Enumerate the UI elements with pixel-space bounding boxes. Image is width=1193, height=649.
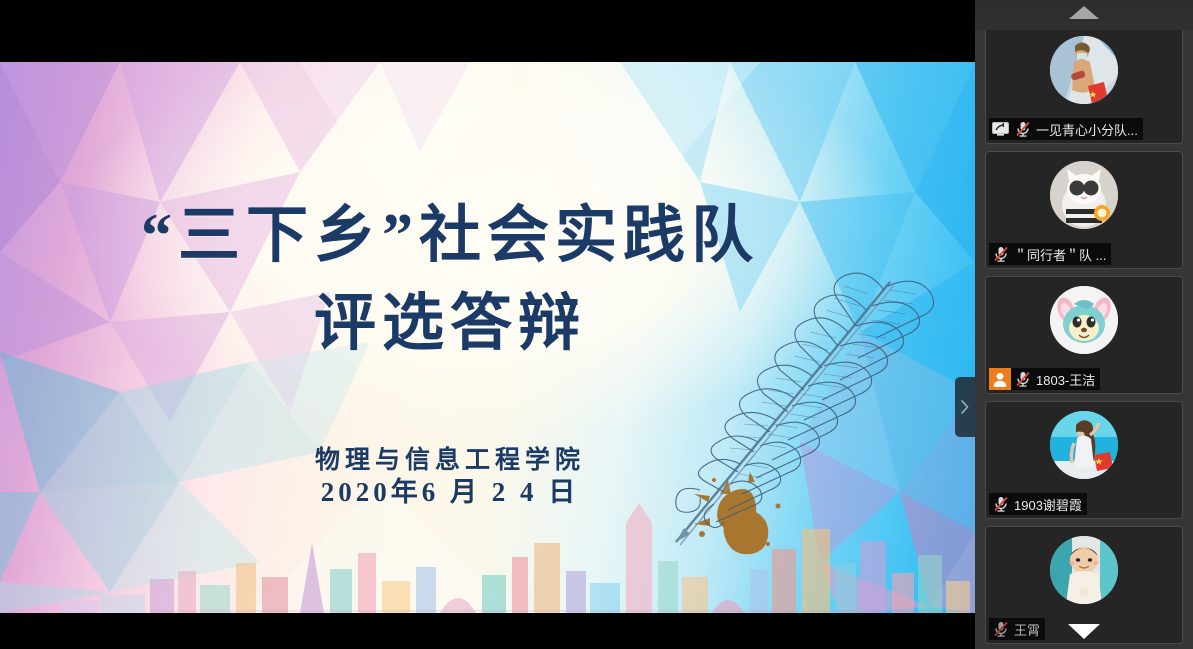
participant-namebar: ＂同行者＂队 ... [989, 243, 1111, 265]
shared-screen-area[interactable]: “三下乡”社会实践队 评选答辩 物理与信息工程学院 2020年6 月 2 4 日 [0, 0, 975, 649]
slide-date: 2020年6 月 2 4 日 [0, 470, 900, 509]
mic-muted-icon [1011, 368, 1035, 390]
screen-share-icon [989, 118, 1011, 140]
avatar [1050, 286, 1118, 354]
participant-tile[interactable]: 1803-王洁 [985, 276, 1183, 394]
participant-name: ＂同行者＂队 ... [1013, 245, 1106, 264]
scroll-down-button[interactable] [975, 619, 1193, 649]
slide-title: “三下乡”社会实践队 评选答辩 [0, 192, 900, 368]
host-person-icon [989, 368, 1011, 390]
mic-muted-icon [989, 493, 1013, 515]
participant-tile[interactable]: ＂同行者＂队 ... [985, 151, 1183, 269]
triangle-up-icon [1069, 6, 1099, 24]
presentation-slide[interactable]: “三下乡”社会实践队 评选答辩 物理与信息工程学院 2020年6 月 2 4 日 [0, 62, 975, 613]
participant-namebar: 1903谢碧霞 [989, 493, 1087, 515]
next-slide-button[interactable] [955, 377, 975, 437]
participant-namebar: 1803-王洁 [989, 368, 1100, 390]
avatar [1050, 161, 1118, 229]
triangle-down-icon [1068, 624, 1100, 644]
participant-namebar: 一见青心小分队... [989, 118, 1143, 140]
mic-muted-icon [1011, 118, 1035, 140]
avatar [1050, 411, 1118, 479]
mic-muted-icon [989, 243, 1013, 265]
participant-tile[interactable]: 一见青心小分队... [985, 26, 1183, 144]
participant-tiles-list: 一见青心小分队... [975, 26, 1193, 649]
scroll-up-button[interactable] [975, 0, 1193, 30]
meeting-window: “三下乡”社会实践队 评选答辩 物理与信息工程学院 2020年6 月 2 4 日 [0, 0, 1193, 649]
chevron-right-icon [961, 400, 969, 414]
participant-video-panel[interactable]: 一见青心小分队... [975, 0, 1193, 649]
avatar [1050, 36, 1118, 104]
participant-tile[interactable]: 1903谢碧霞 [985, 401, 1183, 519]
participant-name: 1903谢碧霞 [1013, 495, 1082, 514]
participant-name: 一见青心小分队... [1035, 120, 1138, 139]
avatar [1050, 536, 1118, 604]
participant-name: 1803-王洁 [1035, 370, 1095, 389]
